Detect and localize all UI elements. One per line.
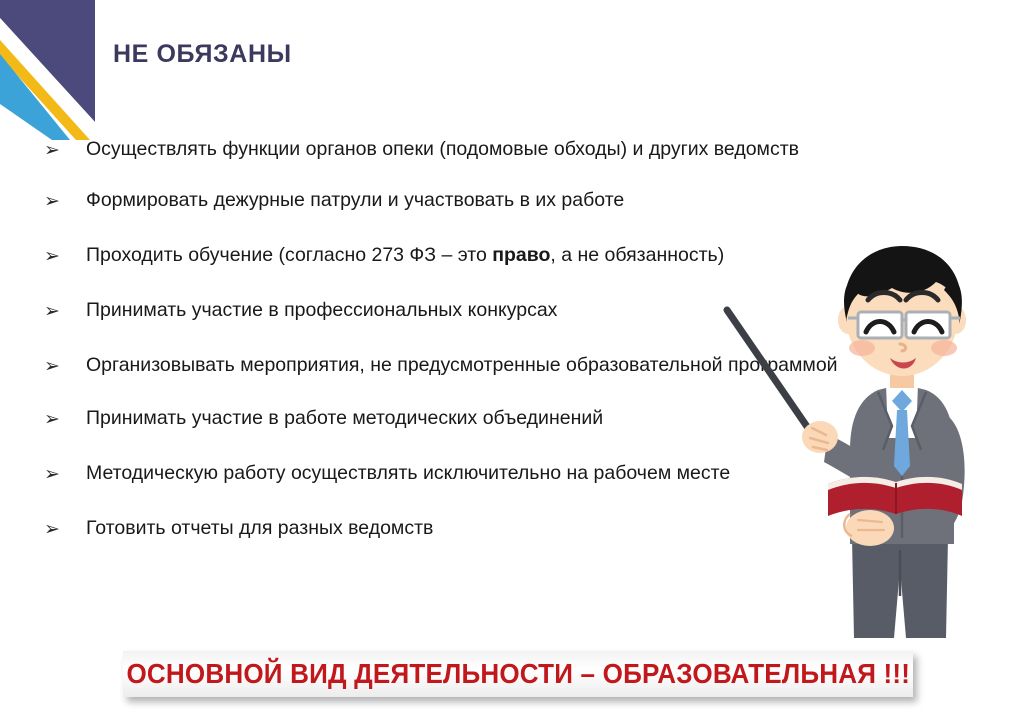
list-item: ➢ Проходить обучение (согласно 273 ФЗ – … bbox=[38, 242, 848, 271]
head-face bbox=[846, 256, 958, 376]
suit-jacket bbox=[850, 384, 954, 544]
necktie-body bbox=[894, 410, 910, 476]
lapel-seam-left bbox=[878, 392, 892, 450]
highlight-banner: ОСНОВНОЙ ВИД ДЕЯТЕЛЬНОСТИ – ОБРАЗОВАТЕЛЬ… bbox=[123, 651, 913, 697]
right-ear bbox=[946, 306, 966, 334]
right-arm-sleeve bbox=[924, 416, 965, 535]
list-item: ➢ Формировать дежурные патрули и участво… bbox=[38, 187, 848, 216]
list-item: ➢ Организовывать мероприятия, не предусм… bbox=[38, 352, 848, 381]
arrow-bullet-icon: ➢ bbox=[38, 460, 86, 489]
hair-side-right bbox=[944, 276, 962, 324]
list-item-label: Формировать дежурные патрули и участвова… bbox=[86, 187, 848, 215]
arrow-bullet-icon: ➢ bbox=[38, 187, 86, 216]
open-book-right-page bbox=[896, 477, 962, 516]
white-gap-band bbox=[0, 18, 95, 140]
banner-label: ОСНОВНОЙ ВИД ДЕЯТЕЛЬНОСТИ – ОБРАЗОВАТЕЛЬ… bbox=[126, 658, 910, 690]
list-item-text-after: , а не обязанность) bbox=[550, 244, 724, 266]
book-page-edges bbox=[828, 477, 962, 490]
left-cheek-blush bbox=[849, 340, 875, 356]
shirt-collar bbox=[886, 378, 918, 404]
list-item: ➢ Готовить отчеты для разных ведомств bbox=[38, 515, 848, 544]
dress-shirt bbox=[886, 378, 918, 438]
left-eyebrow bbox=[868, 293, 900, 301]
list-item: ➢ Принимать участие в работе методически… bbox=[38, 405, 848, 434]
list-item: ➢ Методическую работу осуществлять исклю… bbox=[38, 460, 848, 489]
mouth bbox=[890, 358, 916, 369]
right-cheek-blush bbox=[931, 340, 957, 356]
list-item: ➢ Осуществлять функции органов опеки (по… bbox=[38, 136, 848, 165]
blue-band bbox=[0, 54, 70, 140]
list-item-label: Организовывать мероприятия, не предусмот… bbox=[86, 352, 848, 380]
purple-triangle-upper bbox=[0, 0, 95, 122]
left-glasses-lens bbox=[858, 312, 902, 338]
trousers bbox=[852, 538, 948, 638]
bullet-list: ➢ Осуществлять функции органов опеки (по… bbox=[38, 136, 848, 544]
list-item-label: Готовить отчеты для разных ведомств bbox=[86, 515, 848, 543]
list-item: ➢ Принимать участие в профессиональных к… bbox=[38, 297, 848, 326]
purple-triangle-shape bbox=[0, 0, 95, 122]
nose bbox=[900, 344, 906, 351]
book-holding-hand bbox=[846, 510, 894, 546]
list-item-text-emphasis: право bbox=[492, 244, 550, 266]
lapel-seam-right bbox=[912, 392, 926, 450]
list-item-label: Проходить обучение (согласно 273 ФЗ – эт… bbox=[86, 242, 848, 270]
list-item-label: Принимать участие в профессиональных кон… bbox=[86, 297, 848, 325]
list-item-label: Методическую работу осуществлять исключи… bbox=[86, 460, 848, 488]
arrow-bullet-icon: ➢ bbox=[38, 297, 86, 326]
right-eye bbox=[914, 322, 942, 333]
jacket-left-lapel bbox=[868, 390, 892, 452]
list-item-label: Осуществлять функции органов опеки (подо… bbox=[86, 136, 848, 164]
list-item-text-before: Проходить обучение (согласно 273 ФЗ – эт… bbox=[86, 244, 492, 266]
right-eyebrow bbox=[906, 293, 938, 301]
list-item-label: Принимать участие в работе методических … bbox=[86, 405, 848, 433]
yellow-band bbox=[0, 40, 90, 140]
arrow-bullet-icon: ➢ bbox=[38, 136, 86, 165]
jacket-right-lapel bbox=[912, 390, 936, 452]
book-hand-finger-lines bbox=[858, 520, 884, 530]
neck bbox=[890, 358, 914, 388]
hair bbox=[845, 246, 962, 320]
arrow-bullet-icon: ➢ bbox=[38, 515, 86, 544]
necktie bbox=[892, 390, 912, 412]
arrow-bullet-icon: ➢ bbox=[38, 352, 86, 381]
arrow-bullet-icon: ➢ bbox=[38, 242, 86, 271]
slide-canvas: НЕ ОБЯЗАНЫ ➢ Осуществлять функции органо… bbox=[0, 0, 1024, 724]
arrow-bullet-icon: ➢ bbox=[38, 405, 86, 434]
corner-ribbon-decoration bbox=[0, 0, 300, 140]
right-glasses-lens bbox=[906, 312, 950, 338]
page-title: НЕ ОБЯЗАНЫ bbox=[113, 40, 292, 69]
left-eye bbox=[866, 322, 894, 333]
